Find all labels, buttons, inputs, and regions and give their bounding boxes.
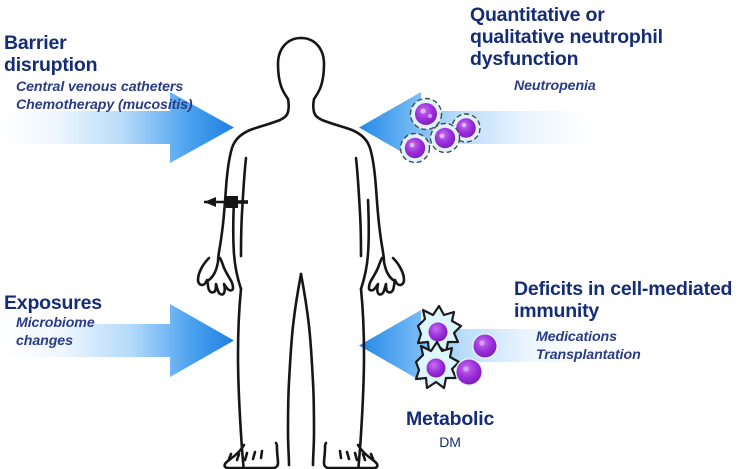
block-neutrophil-dysfunction: Quantitative or qualitative neutrophil d… (470, 4, 663, 96)
metabolic-details: DM (406, 434, 494, 452)
neutrophil-cluster (398, 96, 490, 166)
exposures-heading: Exposures (4, 292, 102, 314)
diagram-canvas: Barrier disruption Central venous cathet… (0, 0, 750, 469)
exposures-details: Microbiome changes (16, 315, 102, 350)
immune-cell-cluster (406, 306, 518, 398)
human-body-figure (186, 22, 416, 469)
cellmediated-heading: Deficits in cell-mediated immunity (514, 278, 732, 322)
block-metabolic: Metabolic DM (406, 408, 494, 452)
neutrophil-details: Neutropenia (514, 78, 663, 96)
block-barrier-disruption: Barrier disruption Central venous cathet… (4, 32, 193, 114)
barrier-heading: Barrier disruption (4, 32, 193, 76)
neutrophil-heading: Quantitative or qualitative neutrophil d… (470, 4, 663, 70)
cellmediated-details: Medications Transplantation (536, 329, 732, 364)
metabolic-heading: Metabolic (406, 408, 494, 430)
block-cell-mediated-immunity: Deficits in cell-mediated immunity Medic… (514, 278, 732, 364)
barrier-details: Central venous catheters Chemotherapy (m… (16, 79, 193, 114)
block-exposures: Exposures Microbiome changes (4, 292, 102, 350)
